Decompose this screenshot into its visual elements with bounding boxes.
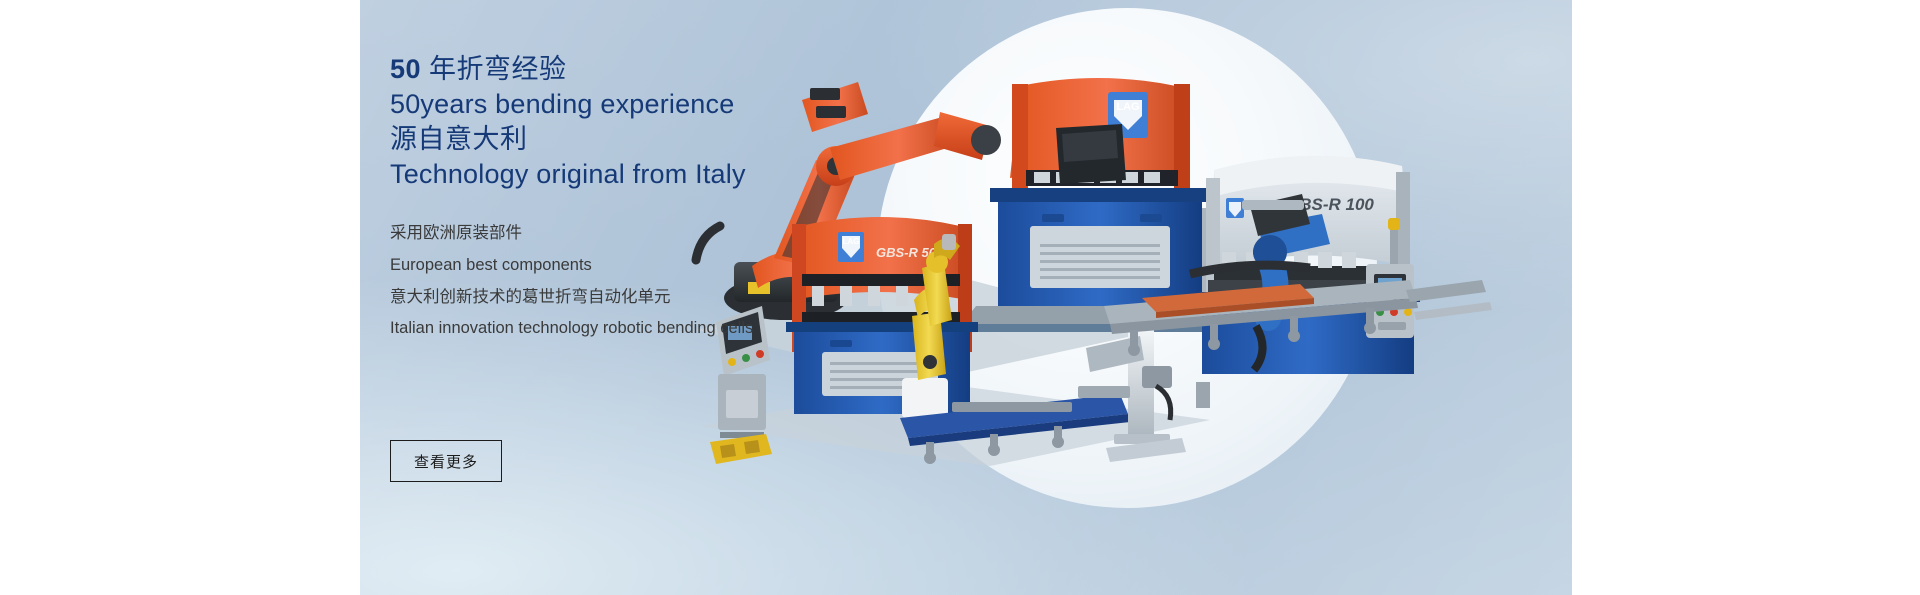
copy-block: 50 年折弯经验 50years bending experience 源自意大… bbox=[390, 52, 910, 345]
headline-line-3: 源自意大利 bbox=[390, 122, 910, 157]
headline-line-1: 50 年折弯经验 bbox=[390, 52, 910, 87]
headline-line-4: Technology original from Italy bbox=[390, 157, 910, 192]
headline-line-1-rest: 年折弯经验 bbox=[421, 54, 567, 84]
subcopy-line-2: European best components bbox=[390, 250, 910, 282]
headline-group: 50 年折弯经验 50years bending experience 源自意大… bbox=[390, 52, 910, 192]
hero-banner: LAG bbox=[360, 0, 1572, 595]
svg-text:LAG: LAG bbox=[1116, 101, 1139, 113]
view-more-button[interactable]: 查看更多 bbox=[390, 440, 502, 482]
subcopy-group: 采用欧洲原装部件 European best components 意大利创新技… bbox=[390, 218, 910, 345]
subcopy-line-3: 意大利创新技术的葛世折弯自动化单元 bbox=[390, 282, 910, 314]
subcopy-line-1: 采用欧洲原装部件 bbox=[390, 218, 910, 250]
lag-logo-right bbox=[1226, 198, 1244, 218]
banner-stage: LAG bbox=[0, 0, 1920, 595]
headline-line-2: 50years bending experience bbox=[390, 87, 910, 122]
yellow-pallet bbox=[710, 434, 772, 464]
subcopy-line-4: Italian innovation technology robotic be… bbox=[390, 313, 910, 345]
headline-years-number: 50 bbox=[390, 54, 421, 84]
